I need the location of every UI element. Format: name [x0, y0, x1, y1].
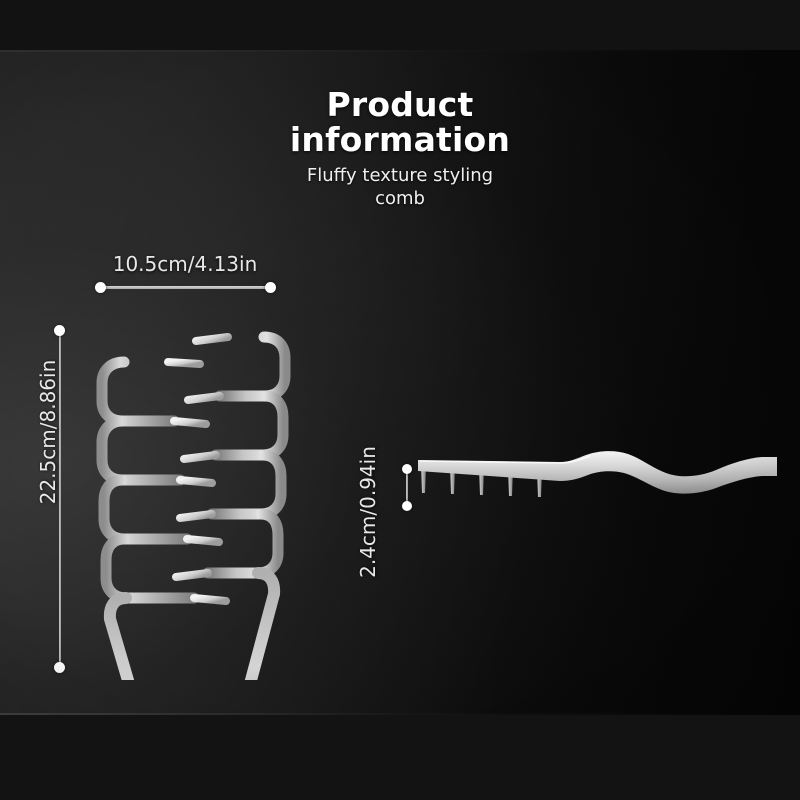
depth-measure-cap-bottom: [402, 501, 412, 511]
height-dimension-label: 22.5cm/8.86in: [36, 332, 60, 532]
width-measure-cap-left: [95, 282, 106, 293]
page-subtitle-line-2: comb: [0, 187, 800, 210]
page-title-line-2: information: [0, 123, 800, 158]
page-title-line-1: Product: [0, 88, 800, 123]
page-title: Product information: [0, 88, 800, 158]
height-measure-cap-bottom: [54, 662, 65, 673]
product-information-slide: 10.5cm/4.13in 22.5cm/8.86in 2.4cm/0.94in…: [0, 0, 800, 800]
page-subtitle: Fluffy texture styling comb: [0, 164, 800, 210]
page-subtitle-line-1: Fluffy texture styling: [0, 164, 800, 187]
depth-dimension-label: 2.4cm/0.94in: [356, 432, 380, 592]
width-dimension-label: 10.5cm/4.13in: [0, 252, 370, 276]
width-measure-cap-right: [265, 282, 276, 293]
width-measure-line: [100, 286, 270, 289]
depth-measure-cap-top: [402, 464, 412, 474]
